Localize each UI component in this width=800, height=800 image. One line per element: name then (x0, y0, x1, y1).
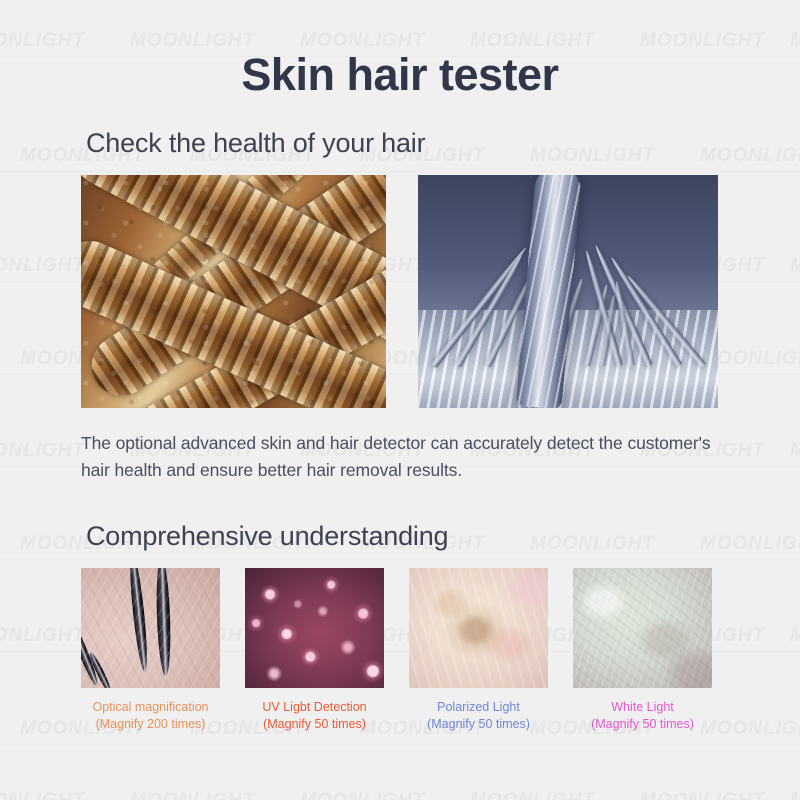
hero-image-row (81, 175, 800, 408)
mode-label: White Light (573, 699, 712, 716)
mode-magnification: (Magnify 50 times) (245, 716, 384, 733)
thumbnail-white-light[interactable] (573, 568, 712, 688)
hair-strand (127, 568, 150, 672)
texture-overlay (81, 175, 386, 408)
mode-magnification: (Magnify 50 times) (409, 716, 548, 733)
mode-magnification: (Magnify 50 times) (573, 716, 712, 733)
mode-card-uv-light-detection[interactable]: UV Ligbt Detection(Magnify 50 times) (245, 568, 384, 732)
hair-strand (81, 619, 101, 687)
caption-optical-magnification: Optical magnification(Magnify 200 times) (81, 699, 220, 732)
mode-card-optical-magnification[interactable]: Optical magnification(Magnify 200 times) (81, 568, 220, 732)
hair-strand (155, 568, 172, 676)
hair-strand (87, 651, 113, 688)
caption-white-light: White Light(Magnify 50 times) (573, 699, 712, 732)
thumbnail-polarized-light[interactable] (409, 568, 548, 688)
product-infographic: Skin hair tester Check the health of you… (0, 0, 800, 800)
mode-magnification: (Magnify 200 times) (81, 716, 220, 733)
mode-label: UV Ligbt Detection (245, 699, 384, 716)
image-sem-hair-follicles-blue (418, 175, 718, 408)
section-heading-health: Check the health of your hair (86, 128, 800, 159)
caption-uv-light-detection: UV Ligbt Detection(Magnify 50 times) (245, 699, 384, 732)
page-title: Skin hair tester (0, 0, 800, 97)
thumbnail-optical-magnification[interactable] (81, 568, 220, 688)
thumbnail-uv-light-detection[interactable] (245, 568, 384, 688)
mode-label: Optical magnification (81, 699, 220, 716)
description-paragraph: The optional advanced skin and hair dete… (81, 430, 741, 483)
mode-label: Polarized Light (409, 699, 548, 716)
image-sem-hair-strands-brown (81, 175, 386, 408)
mode-card-white-light[interactable]: White Light(Magnify 50 times) (573, 568, 712, 732)
section-heading-comprehensive: Comprehensive understanding (86, 521, 800, 552)
mode-thumbnail-row: Optical magnification(Magnify 200 times)… (81, 568, 800, 732)
mode-card-polarized-light[interactable]: Polarized Light(Magnify 50 times) (409, 568, 548, 732)
caption-polarized-light: Polarized Light(Magnify 50 times) (409, 699, 548, 732)
